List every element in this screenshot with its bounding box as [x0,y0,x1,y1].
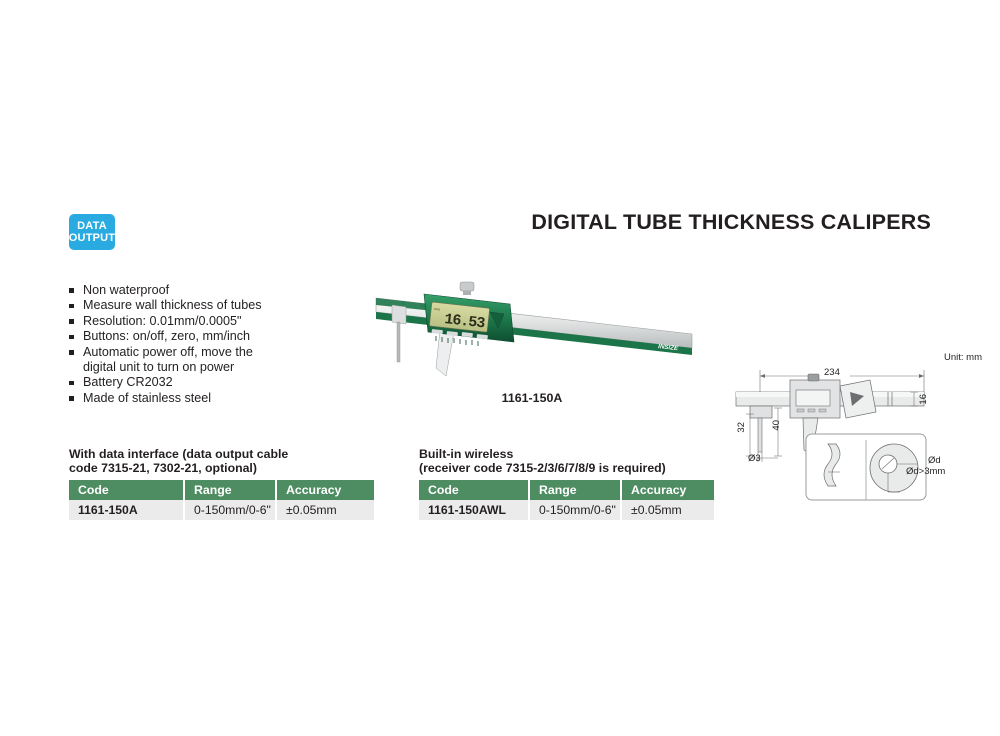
badge-line-2: OUTPUT [69,232,115,244]
cell-accuracy: ±0.05mm [621,500,714,520]
data-output-badge: DATA OUTPUT [69,214,115,250]
page-title: DIGITAL TUBE THICKNESS CALIPERS [531,210,931,235]
badge-line-1: DATA [77,220,107,232]
svg-text:mm: mm [434,307,440,312]
table-with-data-interface: With data interface (data output cable c… [69,447,374,520]
feature-text: Resolution: 0.01mm/0.0005" [83,314,242,328]
dimension-height: 16 [918,394,929,405]
drawing-digital-unit [790,374,876,418]
table-header-row: Code Range Accuracy [419,480,714,500]
table-heading-line-2: code 7315-21, 7302-21, optional) [69,461,374,475]
list-item: Buttons: on/off, zero, mm/inch [69,329,319,344]
drawing-svg [728,352,990,502]
cell-range: 0-150mm/0-6" [184,500,276,520]
dimension-jaw-outer: 32 [736,422,747,433]
catalog-page: DATA OUTPUT DIGITAL TUBE THICKNESS CALIP… [0,0,1000,736]
cell-accuracy: ±0.05mm [276,500,374,520]
svg-text:190: 190 [665,354,673,360]
list-item: Made of stainless steel [69,391,319,406]
column-header-accuracy: Accuracy [621,480,714,500]
bullet-icon [69,288,74,293]
table-built-in-wireless: Built-in wireless (receiver code 7315-2/… [419,447,714,520]
svg-text:120: 120 [604,346,612,352]
feature-text: Battery CR2032 [83,375,173,389]
photo-caption: 1161-150A [362,391,702,405]
list-item: Battery CR2032 [69,375,319,390]
digital-unit: 16.53 mm [424,282,514,346]
svg-text:50: 50 [520,337,526,343]
bullet-icon [69,319,74,324]
bullet-icon [69,304,74,309]
cell-range: 0-150mm/0-6" [529,500,621,520]
column-header-range: Range [529,480,621,500]
caliper-movable-jaw [436,330,454,376]
spec-table: Code Range Accuracy 1161-150AWL 0-150mm/… [419,480,714,520]
column-header-accuracy: Accuracy [276,480,374,500]
table-row: 1161-150AWL 0-150mm/0-6" ±0.05mm [419,500,714,520]
table-heading-line-1: Built-in wireless [419,447,714,461]
feature-text-continued: digital unit to turn on power [83,360,319,375]
list-item: Automatic power off, move the digital un… [69,345,319,376]
feature-text: Buttons: on/off, zero, mm/inch [83,329,250,343]
svg-text:90: 90 [548,340,554,346]
feature-text: Measure wall thickness of tubes [83,298,262,312]
feature-text: Made of stainless steel [83,391,211,405]
column-header-code: Code [419,480,529,500]
caliper-fixed-jaw [392,305,406,362]
inset-diameter-label: Ød [928,455,941,466]
bullet-icon [69,350,74,355]
dimension-length: 234 [824,367,840,378]
technical-drawing: Unit: mm 234 16 32 40 Ø3 Ød Ød>3mm [728,352,990,502]
table-heading-line-2: (receiver code 7315-2/3/6/7/8/9 is requi… [419,461,714,475]
list-item: Measure wall thickness of tubes [69,298,319,313]
inset-note: Ød>3mm [906,466,945,477]
product-photo: 50 90 110 120 130 180 190 0 10 INSIZE [362,272,702,387]
thumb-roller [460,282,474,291]
table-heading: Built-in wireless (receiver code 7315-2/… [419,447,714,476]
unit-label: Unit: mm [944,352,982,363]
column-header-range: Range [184,480,276,500]
bullet-icon [69,381,74,386]
table-row: 1161-150A 0-150mm/0-6" ±0.05mm [69,500,374,520]
feature-text: Non waterproof [83,283,169,297]
dimension-jaw-inner: 40 [771,420,782,431]
feature-text: Automatic power off, move the [83,345,253,359]
column-header-code: Code [69,480,184,500]
svg-text:180: 180 [648,351,656,357]
dimension-pin-diameter: Ø3 [748,453,761,464]
table-heading-line-1: With data interface (data output cable [69,447,374,461]
svg-text:110: 110 [576,343,584,349]
list-item: Non waterproof [69,283,319,298]
list-item: Resolution: 0.01mm/0.0005" [69,314,319,329]
table-header-row: Code Range Accuracy [69,480,374,500]
table-heading: With data interface (data output cable c… [69,447,374,476]
bullet-icon [69,335,74,340]
feature-list: Non waterproof Measure wall thickness of… [69,283,319,406]
cell-code: 1161-150A [69,500,184,520]
bullet-icon [69,396,74,401]
cell-code: 1161-150AWL [419,500,529,520]
svg-text:130: 130 [626,349,634,355]
spec-table: Code Range Accuracy 1161-150A 0-150mm/0-… [69,480,374,520]
